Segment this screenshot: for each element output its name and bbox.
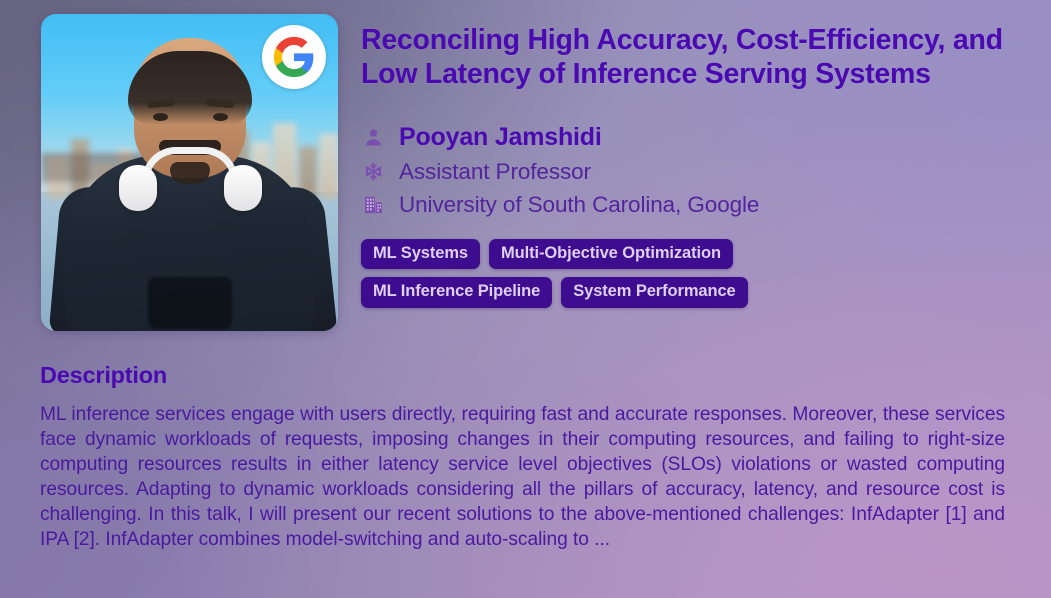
speaker-role: Assistant Professor	[399, 157, 591, 186]
google-logo-icon	[262, 25, 326, 89]
description-heading: Description	[40, 362, 1005, 389]
speaker-talk-card: Reconciling High Accuracy, Cost-Efficien…	[0, 0, 1051, 598]
speaker-name: Pooyan Jamshidi	[399, 122, 602, 153]
speaker-photo	[41, 14, 338, 331]
speaker-info-block: Pooyan Jamshidi Assistant Profess	[361, 122, 1031, 220]
topic-tag-list: ML Systems Multi-Objective Optimization …	[361, 239, 831, 308]
speaker-affiliation: University of South Carolina, Google	[399, 190, 759, 219]
card-header-section: Reconciling High Accuracy, Cost-Efficien…	[0, 0, 1051, 345]
description-body: ML inference services engage with users …	[40, 403, 1005, 552]
speaker-role-row: Assistant Professor	[361, 157, 1031, 186]
topic-tag[interactable]: ML Inference Pipeline	[361, 277, 552, 307]
photo-headphone-right	[224, 165, 262, 211]
speaker-affiliation-row: University of South Carolina, Google	[361, 190, 1031, 219]
description-section: Description ML inference services engage…	[40, 362, 1005, 552]
topic-tag[interactable]: Multi-Objective Optimization	[489, 239, 733, 269]
talk-title: Reconciling High Accuracy, Cost-Efficien…	[361, 24, 1031, 92]
talk-info-column: Reconciling High Accuracy, Cost-Efficien…	[361, 24, 1031, 308]
photo-headphone-left	[119, 165, 157, 211]
asterisk-icon	[361, 159, 385, 185]
speaker-name-row: Pooyan Jamshidi	[361, 122, 1031, 153]
person-icon	[361, 124, 385, 150]
building-icon	[361, 192, 385, 218]
topic-tag[interactable]: ML Systems	[361, 239, 480, 269]
topic-tag[interactable]: System Performance	[561, 277, 747, 307]
